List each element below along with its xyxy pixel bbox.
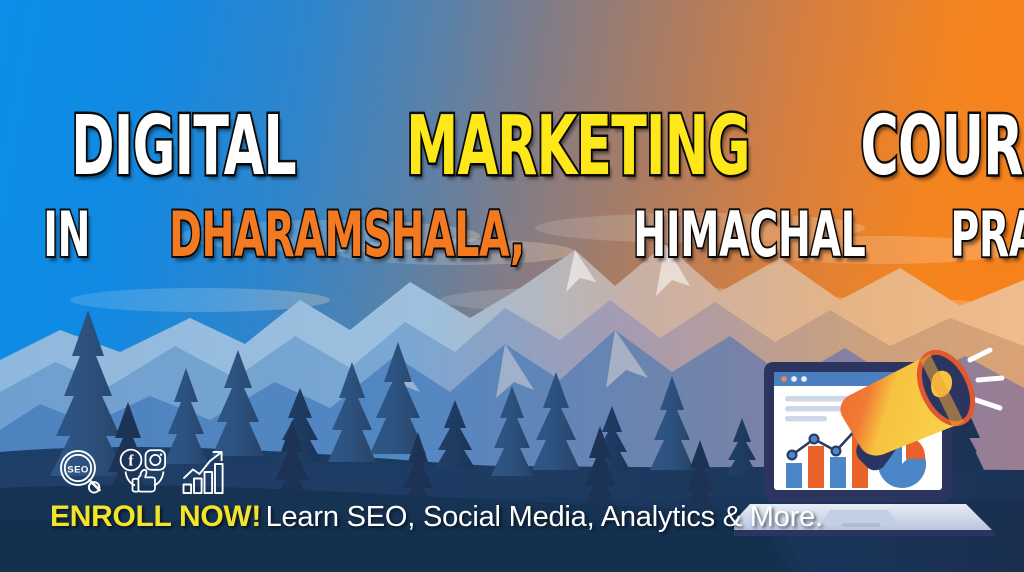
seo-icon-label: SEO [67,465,89,476]
cta-emphasis: ENROLL NOW! [50,500,261,533]
headline-word-in: IN [43,202,90,268]
browser-dot-1 [781,376,787,382]
headline-word-course: COURSE [861,104,1024,190]
cta-line: ENROLL NOW! Learn SEO, Social Media, Ana… [50,500,823,534]
headline-word-pradesh: PRADESH [950,202,1024,268]
seo-magnifier-icon: SEO [54,447,108,497]
cta-rest: Learn SEO, Social Media, Analytics & Mor… [266,501,823,533]
headline-word-dharamshala: DHARAMSHALA, [169,202,524,268]
headline-line-1: DIGITAL MARKETING COURSE [36,104,988,190]
facebook-f-glyph: f [128,452,134,469]
headline-word-marketing: MARKETING [406,104,749,190]
headline-block: DIGITAL MARKETING COURSE IN DHARAMSHALA,… [0,104,1024,269]
promotional-banner: DIGITAL MARKETING COURSE IN DHARAMSHALA,… [0,0,1024,572]
browser-dot-3 [801,376,807,382]
analytics-growth-chart-icon [180,447,230,497]
laptop-trackpad [822,510,896,522]
headline-word-digital: DIGITAL [71,104,296,190]
browser-dot-2 [791,376,797,382]
headline-word-himachal: HIMACHAL [633,202,865,268]
social-media-thumbs-up-icon: f [116,447,172,497]
laptop-front-notch [842,523,880,527]
headline-line-2: IN DHARAMSHALA, HIMACHAL PRADESH [36,202,988,269]
feature-icon-row: SEO f [54,447,230,497]
